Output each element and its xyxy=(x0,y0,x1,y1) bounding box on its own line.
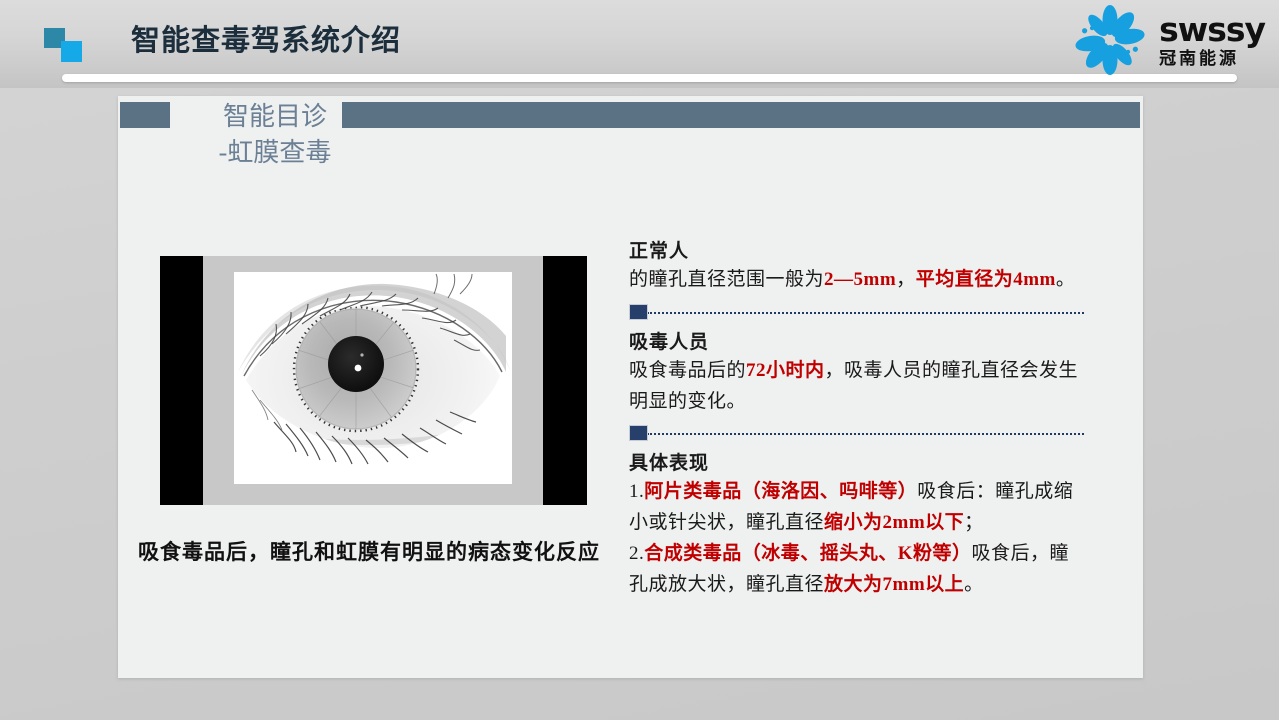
body-part-highlight: 2—5mm xyxy=(824,269,896,290)
droplet-flower-icon xyxy=(1069,5,1151,75)
brand-logo: swssy 冠南能源 xyxy=(1069,4,1265,76)
body-part: ， xyxy=(896,269,916,290)
divider-dotted-line xyxy=(647,312,1084,314)
list-part-highlight: 放大为7mm以上 xyxy=(824,574,964,595)
presentation-slide: 智能查毒驾系统介绍 xyxy=(0,0,1279,720)
block-heading: 具体表现 xyxy=(629,448,1084,475)
list-part-highlight: 阿片类毒品（海洛因、吗啡等） xyxy=(644,481,917,502)
title-band-right xyxy=(342,102,1140,128)
list-index: 2. xyxy=(629,543,644,564)
page-title: 智能查毒驾系统介绍 xyxy=(131,17,401,59)
list-part-highlight: 合成类毒品（冰毒、摇头丸、K粉等） xyxy=(644,543,971,564)
eye-photograph xyxy=(234,272,512,484)
body-part: 。 xyxy=(1056,269,1076,290)
section-divider-2 xyxy=(629,422,1084,444)
section-title-line1: 智能目诊 xyxy=(223,102,327,131)
divider-dotted-line xyxy=(647,433,1084,435)
content-block-drug-user: 吸毒人员 吸食毒品后的72小时内，吸毒人员的瞳孔直径会发生明显的变化。 xyxy=(629,327,1084,418)
slide-header: 智能查毒驾系统介绍 xyxy=(0,0,1279,88)
list-item: 1.阿片类毒品（海洛因、吗啡等）吸食后：瞳孔成缩小或针尖状，瞳孔直径缩小为2mm… xyxy=(629,477,1084,539)
content-block-normal-person: 正常人 的瞳孔直径范围一般为2—5mm，平均直径为4mm。 xyxy=(629,236,1084,296)
section-title-line2: -虹膜查毒 xyxy=(190,135,360,171)
content-block-manifestations: 具体表现 1.阿片类毒品（海洛因、吗啡等）吸食后：瞳孔成缩小或针尖状，瞳孔直径缩… xyxy=(629,448,1084,600)
body-part-highlight: 平均直径为4mm xyxy=(916,269,1056,290)
body-part: 的瞳孔直径范围一般为 xyxy=(629,269,824,290)
list-item: 2.合成类毒品（冰毒、摇头丸、K粉等）吸食后，瞳孔成放大状，瞳孔直径放大为7mm… xyxy=(629,539,1084,601)
block-heading: 正常人 xyxy=(629,236,1084,263)
block-body: 吸食毒品后的72小时内，吸毒人员的瞳孔直径会发生明显的变化。 xyxy=(629,356,1084,418)
decoration-square-bottom-icon xyxy=(61,41,82,62)
bullet-square-icon xyxy=(629,304,648,320)
body-part-highlight: 72小时内 xyxy=(746,360,825,381)
brand-text: swssy 冠南能源 xyxy=(1159,13,1265,68)
content-text-column: 正常人 的瞳孔直径范围一般为2—5mm，平均直径为4mm。 吸毒人员 吸食毒品后… xyxy=(629,236,1084,600)
eye-figure xyxy=(160,256,587,505)
body-part: 吸食毒品后的 xyxy=(629,360,746,381)
block-body: 的瞳孔直径范围一般为2—5mm，平均直径为4mm。 xyxy=(629,265,1084,296)
title-band-left xyxy=(120,102,170,128)
figure-caption: 吸食毒品后，瞳孔和虹膜有明显的病态变化反应 xyxy=(138,536,638,566)
list-part: ； xyxy=(964,512,984,533)
slide-content-panel: 智能目诊 -虹膜查毒 xyxy=(118,96,1143,678)
list-part-highlight: 缩小为2mm以下 xyxy=(824,512,964,533)
section-divider-1 xyxy=(629,301,1084,323)
list-part: 。 xyxy=(964,574,984,595)
block-heading: 吸毒人员 xyxy=(629,327,1084,354)
list-index: 1. xyxy=(629,481,644,502)
section-title: 智能目诊 -虹膜查毒 xyxy=(190,99,360,171)
bullet-square-icon xyxy=(629,425,648,441)
brand-name: swssy xyxy=(1159,13,1265,46)
header-divider xyxy=(62,74,1237,82)
brand-subtitle: 冠南能源 xyxy=(1159,51,1265,68)
